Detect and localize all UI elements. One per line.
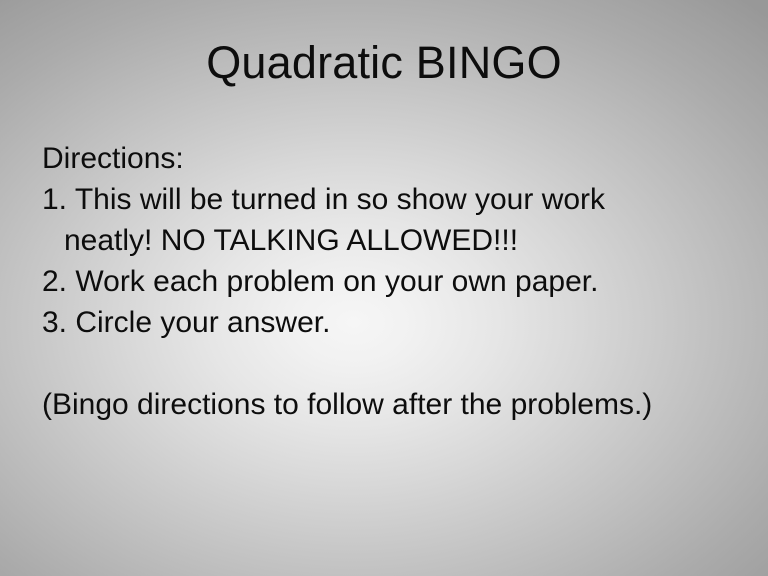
- direction-item-1: 1. This will be turned in so show your w…: [42, 179, 684, 261]
- slide-canvas: Quadratic BINGO Directions: 1. This will…: [0, 0, 768, 576]
- footnote-text: (Bingo directions to follow after the pr…: [42, 384, 732, 425]
- direction-item-3: 3. Circle your answer.: [42, 302, 684, 343]
- blank-line-spacer: [42, 343, 732, 384]
- direction-item-2: 2. Work each problem on your own paper.: [42, 261, 684, 302]
- directions-heading: Directions:: [42, 138, 732, 179]
- page-title: Quadratic BINGO: [0, 38, 768, 88]
- slide-body: Directions: 1. This will be turned in so…: [42, 138, 732, 425]
